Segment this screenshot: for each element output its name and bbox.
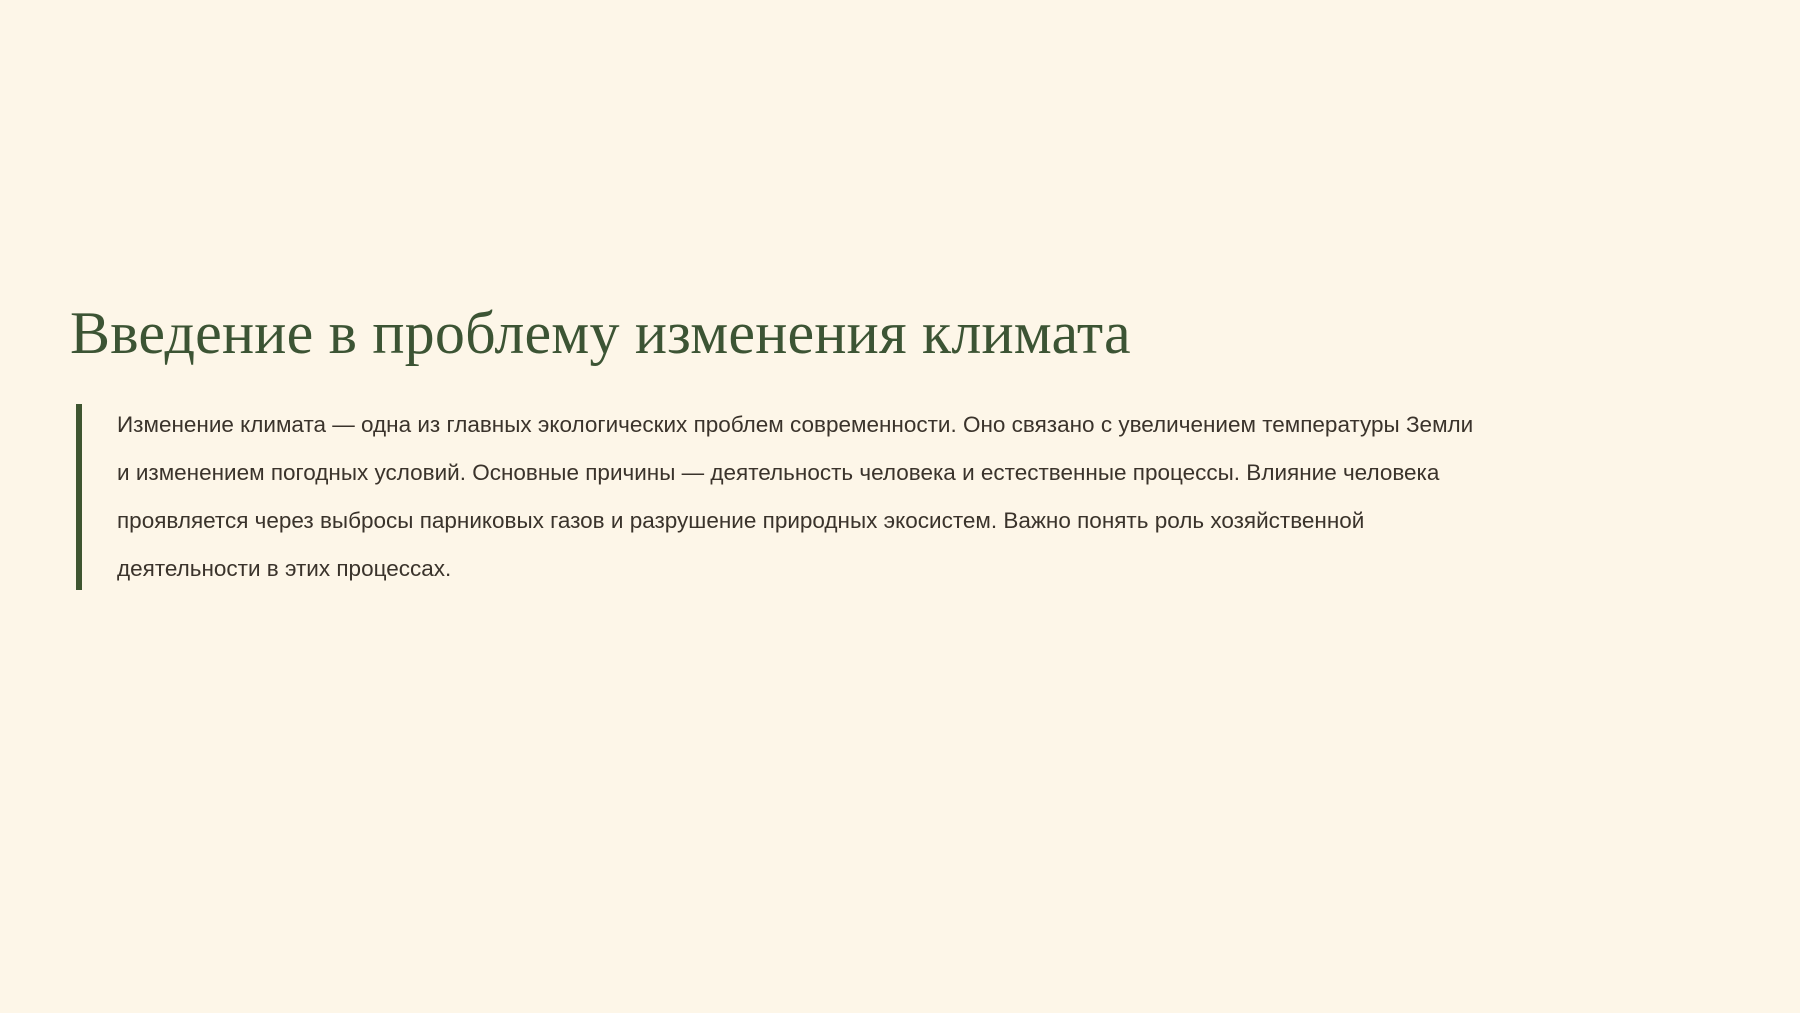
callout-block: Изменение климата — одна из главных экол… [70,401,1510,593]
callout-paragraph: Изменение климата — одна из главных экол… [117,401,1492,593]
callout-accent-bar [76,404,82,590]
page-title: Введение в проблему изменения климата [70,300,1510,367]
slide-canvas: Введение в проблему изменения климата Из… [0,0,1800,1013]
slide-content: Введение в проблему изменения климата Из… [70,300,1510,593]
